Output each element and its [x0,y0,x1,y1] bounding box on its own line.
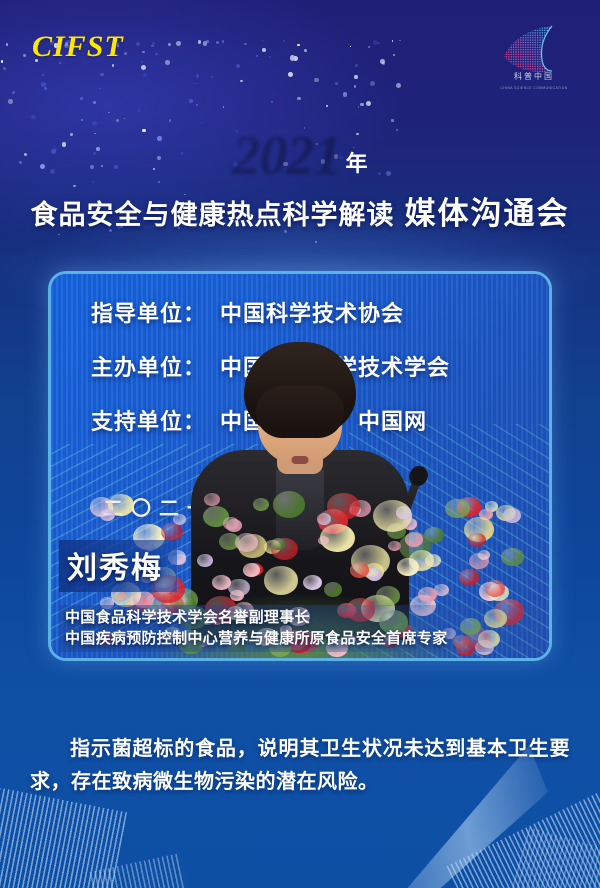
kepu-logo-label: 科普中国 [486,73,582,82]
flower-blossom [230,590,243,601]
title-event: 媒体沟通会 [405,188,570,233]
cifst-logo-text: CIFST [32,30,124,64]
poster-root: CIFST 科普中国 C [0,0,600,888]
quote-text: 指示菌超标的食品，说明其卫生状况未达到基本卫生要求，存在致病微生物污染的潜在风险… [30,732,570,798]
flower-blossom [264,566,299,594]
flower-blossom [459,569,479,585]
flower-blossom [226,519,242,532]
flower-blossom [271,538,285,550]
flower-blossom [235,533,258,552]
flower-blossom [273,491,305,518]
flower-blossom [503,508,521,523]
flower-blossom [396,506,411,518]
kepu-china-logo: 科普中国 CHINA SCIENCE COMMUNICATION [486,22,582,92]
speaker-title-block: 中国食品科学技术学会名誉副理事长 中国疾病预防控制中心营养与健康所原食品安全首席… [59,605,541,653]
speaker-name: 刘秀梅 [59,540,177,592]
flower-blossom [327,493,359,520]
flower-blossom [367,568,382,581]
flower-blossom [403,518,417,530]
backdrop-line-value: 中国科学技术协会 [220,302,404,327]
flower-blossom [418,587,437,602]
poster-title: 2021 年 食品安全与健康热点科学解读 媒体沟通会 [0,126,600,233]
flower-blossom [243,563,260,577]
flower-blossom [445,499,469,519]
kepu-logo-sublabel: CHINA SCIENCE COMMUNICATION [486,86,582,90]
title-subtitle-row: 食品安全与健康热点科学解读 媒体沟通会 [0,188,600,233]
flower-blossom [100,509,115,521]
flower-blossom [317,513,331,524]
stripe-decor-right [446,793,600,888]
title-topic: 食品安全与健康热点科学解读 [31,193,395,232]
flower-blossom [424,527,443,543]
backdrop-line-label: 指导单位： [91,302,206,327]
flower-blossom [253,498,269,511]
stripe-decor-right-2 [505,827,600,888]
speaker-title: 中国疾病预防控制中心营养与健康所原食品安全首席专家 [65,628,535,650]
speaker-hair [244,342,356,434]
flower-blossom [405,532,423,547]
flower-blossom [478,550,490,560]
stripe-decor-left-small [90,853,191,888]
flower-blossom [197,554,213,567]
flower-blossom [204,493,220,506]
title-year-suffix: 年 [345,154,367,176]
backdrop-line: 指导单位：中国科学技术协会 [91,296,529,328]
speaker-mouth [292,456,309,464]
title-year-row: 2021 年 [0,126,600,182]
flower-blossom [468,533,485,547]
flower-blossom [376,586,400,606]
title-year: 2021 [232,126,340,182]
flower-blossom [485,580,505,596]
kepu-wing-icon [486,22,582,74]
speaker-title: 中国食品科学技术学会名誉副理事长 [65,607,535,629]
speaker-photo-card: 指导单位：中国科学技术协会 主办单位：中国食品科学技术学会 支持单位：中国科协网… [48,271,552,661]
